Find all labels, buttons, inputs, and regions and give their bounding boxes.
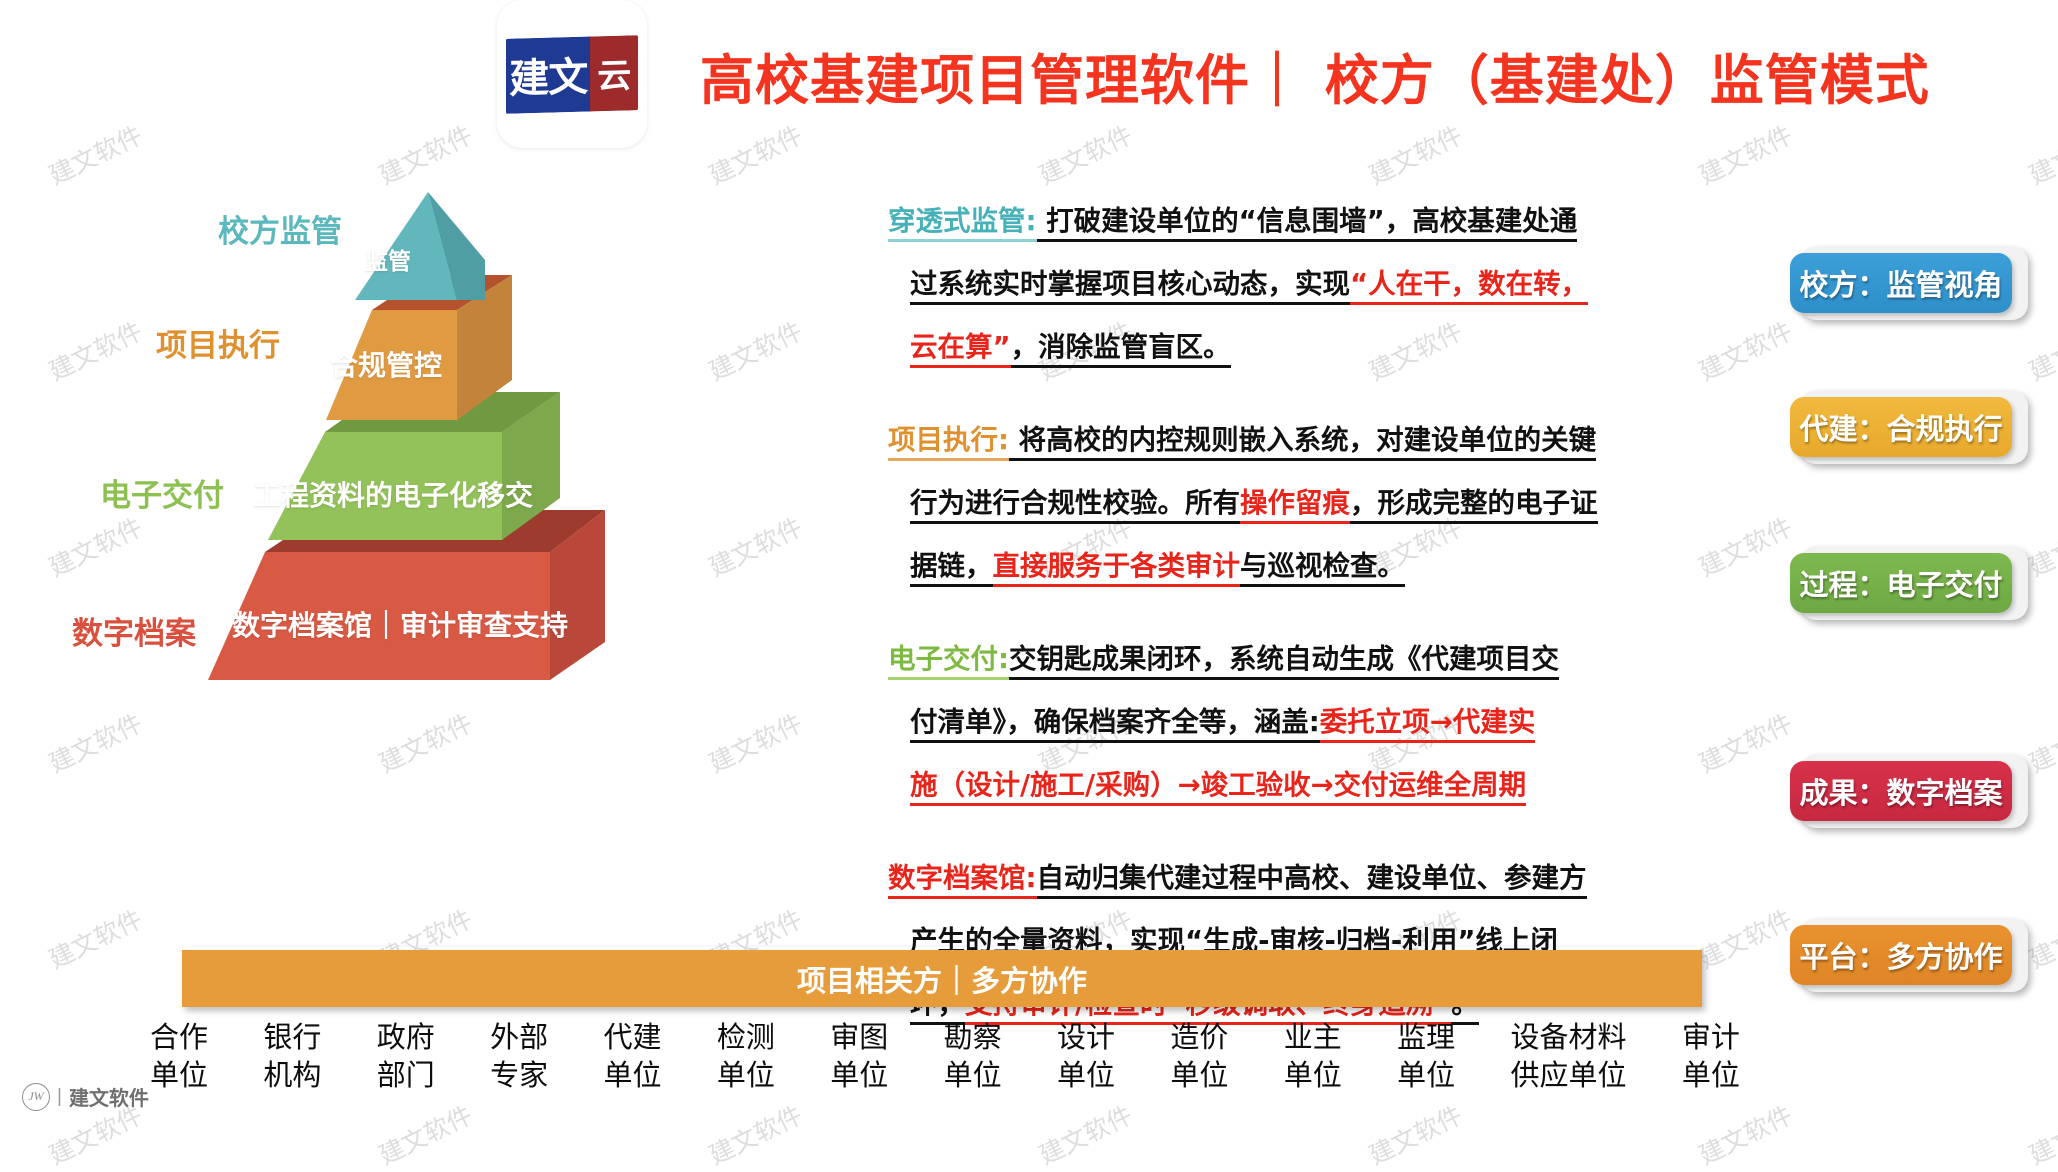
role-badge[interactable]: 成果：数字档案 [1800,754,2028,828]
text-run: 过系统实时掌握项目核心动态，实现 [910,268,1350,305]
description-text-block: 穿透式监管: 打破建设单位的“信息围墙”，高校基建处通过系统实时掌握项目核心动态… [888,190,1708,1066]
text-run: ，消除监管盲区。 [1011,331,1231,368]
watermark-text: 建文软件 [2022,116,2058,192]
logo-text-right: 云 [597,47,631,97]
description-line: 行为进行合规性校验。所有操作留痕，形成完整的电子证 [888,472,1708,535]
text-run: 交钥匙成果闭环，系统自动生成《代建项目交 [1009,643,1559,680]
role-badge[interactable]: 平台：多方协作 [1800,918,2028,992]
watermark-text: 建文软件 [372,1096,478,1172]
text-run: 打破建设单位的“信息围墙”，高校基建处通 [1037,205,1578,242]
text-run: 付清单》，确保档案齐全等，涵盖: [910,706,1320,743]
watermark-text: 建文软件 [42,704,148,780]
text-run: 据链， [910,550,993,587]
stakeholder-line-2: 单位 [1397,1056,1455,1094]
footer-branding: JW | 建文软件 [22,1082,149,1111]
stakeholder-list: 合作单位银行机构政府部门外部专家代建单位检测单位审图单位勘察单位设计单位造价单位… [150,1018,1740,1094]
stakeholder-item: 业主单位 [1284,1018,1342,1094]
text-run: 穿透式监管: [888,205,1037,242]
text-run: 云在算” [910,331,1011,368]
text-run: 施（设计/施工/采购）→竣工验收→交付运维全周期 [910,769,1526,806]
stakeholder-item: 设备材料供应单位 [1511,1018,1627,1094]
stakeholder-line-1: 设计 [1057,1018,1115,1056]
stakeholder-line-1: 监理 [1397,1018,1455,1056]
role-badge[interactable]: 校方：监管视角 [1800,246,2028,320]
stakeholder-item: 审计单位 [1682,1018,1740,1094]
description-line: 付清单》，确保档案齐全等，涵盖:委托立项→代建实 [888,691,1708,754]
pyramid-svg [150,180,790,880]
stakeholder-line-2: 单位 [830,1056,888,1094]
watermark-text: 建文软件 [42,900,148,976]
pyramid-level-3-label: 工程资料的电子化移交 [253,474,533,514]
stakeholder-line-2: 单位 [1057,1056,1115,1094]
footer-separator: | [57,1086,62,1108]
pyramid-level-1-label: 监管 [365,242,411,276]
stakeholder-line-1: 设备材料 [1511,1018,1627,1056]
stakeholder-bar-label: 项目相关方｜多方协作 [797,958,1087,1000]
description-paragraph: 项目执行: 将高校的内控规则嵌入系统，对建设单位的关键行为进行合规性校验。所有操… [888,409,1708,598]
stakeholder-item: 检测单位 [717,1018,775,1094]
text-run: 自动归集代建过程中高校、建设单位、参建方 [1037,862,1587,899]
description-line: 过系统实时掌握项目核心动态，实现“人在干，数在转， [888,253,1708,316]
role-badge-fill: 成果：数字档案 [1790,761,2012,821]
stakeholder-item: 审图单位 [830,1018,888,1094]
watermark-text: 建文软件 [42,116,148,192]
stakeholder-line-1: 审计 [1682,1018,1740,1056]
watermark-text: 建文软件 [1692,116,1798,192]
watermark-text: 建文软件 [42,508,148,584]
watermark-text: 建文软件 [1692,508,1798,584]
stakeholder-line-1: 业主 [1284,1018,1342,1056]
text-run: 直接服务于各类审计 [993,550,1241,587]
description-line: 项目执行: 将高校的内控规则嵌入系统，对建设单位的关键 [888,409,1708,472]
role-badge-label: 过程：电子交付 [1799,562,2002,604]
stakeholder-line-1: 审图 [830,1018,888,1056]
stakeholder-line-2: 单位 [1682,1056,1740,1094]
stakeholder-line-1: 勘察 [944,1018,1002,1056]
text-run: 委托立项→代建实 [1320,706,1536,743]
watermark-text: 建文软件 [702,1096,808,1172]
stakeholder-line-1: 银行 [263,1018,321,1056]
logo-text-left: 建文 [509,44,587,104]
watermark-text: 建文软件 [1032,1096,1138,1172]
stage-label-execution: 项目执行 [156,320,280,365]
stage-label-archive: 数字档案 [72,608,196,653]
text-run: 操作留痕 [1240,487,1350,524]
stakeholder-item: 设计单位 [1057,1018,1115,1094]
description-paragraph: 数字档案馆:自动归集代建过程中高校、建设单位、参建方产生的全量资料，实现“生成-… [888,847,1708,1036]
pyramid-diagram: 监管 合规管控 工程资料的电子化移交 数字档案馆｜审计审查支持 [150,180,790,880]
stakeholder-item: 代建单位 [604,1018,662,1094]
text-run: ，形成完整的电子证 [1350,487,1598,524]
role-badge-label: 成果：数字档案 [1799,770,2002,812]
pyramid-level-2-label: 合规管控 [330,344,442,384]
stakeholder-line-1: 代建 [604,1018,662,1056]
role-badge-fill: 平台：多方协作 [1790,925,2012,985]
description-line: 施（设计/施工/采购）→竣工验收→交付运维全周期 [888,754,1708,817]
watermark-text: 建文软件 [2022,1096,2058,1172]
text-run: 项目执行: [888,424,1009,461]
description-line: 穿透式监管: 打破建设单位的“信息围墙”，高校基建处通 [888,190,1708,253]
watermark-text: 建文软件 [1692,312,1798,388]
pyramid-level-4-label: 数字档案馆｜审计审查支持 [232,604,568,644]
role-badge-label: 校方：监管视角 [1799,262,2002,304]
text-run: 将高校的内控规则嵌入系统，对建设单位的关键 [1009,424,1596,461]
watermark-text: 建文软件 [1032,116,1138,192]
stakeholder-line-2: 单位 [1170,1056,1228,1094]
text-run: 数字档案馆: [888,862,1037,899]
watermark-text: 建文软件 [42,312,148,388]
jianwen-logo-icon: 建文 云 [506,35,638,114]
stakeholder-item: 监理单位 [1397,1018,1455,1094]
logo-red-panel: 云 [590,35,638,111]
stakeholder-line-2: 单位 [944,1056,1002,1094]
role-badge-fill: 代建：合规执行 [1790,397,2012,457]
role-badge-label: 代建：合规执行 [1799,406,2002,448]
stakeholder-item: 银行机构 [263,1018,321,1094]
description-line: 电子交付:交钥匙成果闭环，系统自动生成《代建项目交 [888,628,1708,691]
stage-label-supervision: 校方监管 [218,206,342,251]
stakeholder-line-2: 单位 [1284,1056,1342,1094]
role-badge[interactable]: 过程：电子交付 [1800,546,2028,620]
stakeholder-item: 造价单位 [1170,1018,1228,1094]
stage-label-delivery: 电子交付 [100,470,224,515]
page-title: 高校基建项目管理软件｜ 校方（基建处）监管模式 [700,36,1930,115]
stakeholder-line-2: 单位 [604,1056,662,1094]
stakeholder-bar: 项目相关方｜多方协作 [182,950,1702,1007]
jw-circle-icon: JW [22,1083,50,1111]
description-line: 数字档案馆:自动归集代建过程中高校、建设单位、参建方 [888,847,1708,910]
description-line: 据链，直接服务于各类审计与巡视检查。 [888,535,1708,598]
stakeholder-line-1: 外部 [490,1018,548,1056]
watermark-text: 建文软件 [2022,312,2058,388]
watermark-text: 建文软件 [1692,1096,1798,1172]
stakeholder-line-2: 机构 [263,1056,321,1094]
text-run: 行为进行合规性校验。所有 [910,487,1240,524]
role-badge-fill: 过程：电子交付 [1790,553,2012,613]
stakeholder-item: 勘察单位 [944,1018,1002,1094]
watermark-text: 建文软件 [1362,1096,1468,1172]
stakeholder-item: 合作单位 [150,1018,208,1094]
description-paragraph: 电子交付:交钥匙成果闭环，系统自动生成《代建项目交付清单》，确保档案齐全等，涵盖… [888,628,1708,817]
watermark-text: 建文软件 [1692,900,1798,976]
stakeholder-item: 外部专家 [490,1018,548,1094]
description-paragraph: 穿透式监管: 打破建设单位的“信息围墙”，高校基建处通过系统实时掌握项目核心动态… [888,190,1708,379]
text-run: “人在干，数在转， [1350,268,1588,305]
stakeholder-line-2: 单位 [717,1056,775,1094]
stakeholder-line-2: 供应单位 [1511,1056,1627,1094]
stakeholder-line-2: 单位 [150,1056,208,1094]
role-badge-fill: 校方：监管视角 [1790,253,2012,313]
role-badge[interactable]: 代建：合规执行 [1800,390,2028,464]
stakeholder-line-1: 造价 [1170,1018,1228,1056]
brand-logo-card: 建文 云 [497,0,647,148]
footer-brand-text: 建文软件 [69,1082,149,1111]
stakeholder-line-1: 政府 [377,1018,435,1056]
watermark-text: 建文软件 [1362,116,1468,192]
stakeholder-line-2: 专家 [490,1056,548,1094]
role-badge-label: 平台：多方协作 [1799,934,2002,976]
text-run: 与巡视检查。 [1240,550,1405,587]
watermark-text: 建文软件 [1692,704,1798,780]
text-run: 电子交付: [888,643,1009,680]
stakeholder-line-1: 合作 [150,1018,208,1056]
stakeholder-line-2: 部门 [377,1056,435,1094]
stakeholder-item: 政府部门 [377,1018,435,1094]
logo-blue-panel: 建文 [506,36,590,113]
description-line: 云在算”，消除监管盲区。 [888,316,1708,379]
stakeholder-line-1: 检测 [717,1018,775,1056]
